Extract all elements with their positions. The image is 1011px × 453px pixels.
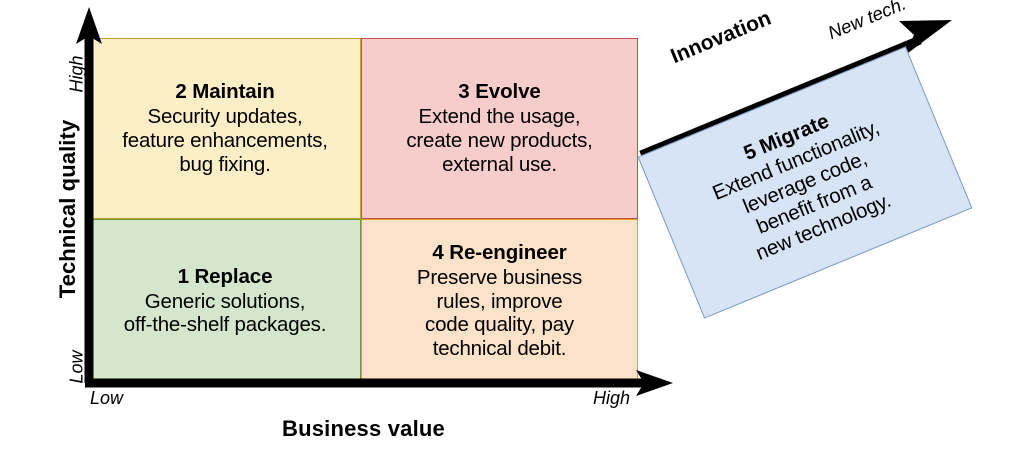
x-axis-tick-high: High — [593, 388, 630, 409]
quadrant-evolve-body: Extend the usage, create new products, e… — [406, 105, 592, 177]
x-axis-arrowhead-icon — [636, 370, 673, 396]
x-axis-title: Business value — [89, 416, 638, 442]
diagram-canvas: 2 Maintain Security updates, feature enh… — [0, 0, 1011, 453]
quadrant-maintain-body: Security updates, feature enhancements, … — [122, 105, 328, 177]
quadrant-evolve[interactable]: 3 Evolve Extend the usage, create new pr… — [361, 38, 638, 219]
quadrant-maintain-title: 2 Maintain — [175, 80, 274, 104]
quadrant-replace[interactable]: 1 Replace Generic solutions, off-the-she… — [89, 219, 361, 383]
y-axis-tick-low: Low — [67, 351, 88, 421]
quadrant-evolve-title: 3 Evolve — [458, 80, 540, 104]
new-tech-label: New tech. — [825, 0, 909, 44]
quadrant-replace-body: Generic solutions, off-the-shelf package… — [124, 290, 326, 338]
quadrant-reengineer[interactable]: 4 Re-engineer Preserve business rules, i… — [361, 219, 638, 383]
quadrant-replace-title: 1 Replace — [178, 265, 273, 289]
innovation-arrow-label: Innovation — [667, 6, 774, 69]
x-axis-tick-low: Low — [90, 388, 123, 409]
quadrant-reengineer-body: Preserve business rules, improve code qu… — [417, 266, 582, 362]
y-axis-tick-high: High — [67, 56, 88, 126]
quadrant-migrate[interactable]: 5 Migrate Extend functionality, leverage… — [638, 46, 973, 318]
quadrant-maintain[interactable]: 2 Maintain Security updates, feature enh… — [89, 38, 361, 219]
quadrant-reengineer-title: 4 Re-engineer — [432, 241, 566, 265]
